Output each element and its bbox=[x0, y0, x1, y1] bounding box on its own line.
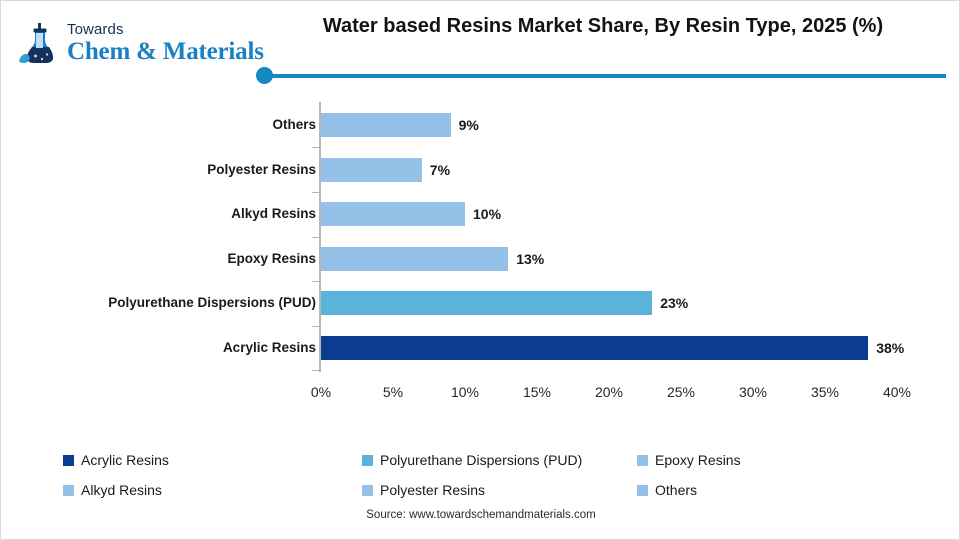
bar[interactable] bbox=[321, 202, 465, 226]
legend-label: Polyester Resins bbox=[380, 482, 485, 498]
y-axis-line bbox=[319, 102, 321, 372]
x-axis-tick-label: 25% bbox=[651, 384, 711, 400]
x-axis-tick-label: 30% bbox=[723, 384, 783, 400]
chart-canvas: Towards Chem & Materials Water based Res… bbox=[0, 0, 960, 540]
bar[interactable] bbox=[321, 291, 652, 315]
x-axis-tick-label: 15% bbox=[507, 384, 567, 400]
category-label: Alkyd Resins bbox=[16, 206, 316, 221]
legend-swatch bbox=[63, 485, 74, 496]
legend-swatch bbox=[362, 485, 373, 496]
x-axis-tick-label: 35% bbox=[795, 384, 855, 400]
legend-swatch bbox=[637, 455, 648, 466]
x-axis-tick-label: 0% bbox=[291, 384, 351, 400]
legend-item[interactable]: Others bbox=[637, 482, 697, 498]
x-axis-tick-label: 40% bbox=[867, 384, 927, 400]
y-axis-tick bbox=[312, 326, 319, 327]
y-axis-tick bbox=[312, 192, 319, 193]
legend-label: Alkyd Resins bbox=[81, 482, 162, 498]
legend-swatch bbox=[637, 485, 648, 496]
bar[interactable] bbox=[321, 158, 422, 182]
bar-value-label: 38% bbox=[876, 340, 904, 356]
bar[interactable] bbox=[321, 113, 451, 137]
legend-swatch bbox=[362, 455, 373, 466]
y-axis-tick bbox=[312, 370, 319, 371]
legend-item[interactable]: Epoxy Resins bbox=[637, 452, 741, 468]
x-axis-tick-label: 10% bbox=[435, 384, 495, 400]
legend-item[interactable]: Alkyd Resins bbox=[63, 482, 362, 498]
bar-value-label: 23% bbox=[660, 295, 688, 311]
chart-legend: Acrylic ResinsPolyurethane Dispersions (… bbox=[63, 445, 853, 505]
legend-row: Alkyd ResinsPolyester ResinsOthers bbox=[63, 475, 853, 505]
legend-row: Acrylic ResinsPolyurethane Dispersions (… bbox=[63, 445, 853, 475]
category-label: Epoxy Resins bbox=[16, 251, 316, 266]
legend-label: Others bbox=[655, 482, 697, 498]
category-label: Acrylic Resins bbox=[16, 340, 316, 355]
y-axis-tick bbox=[312, 147, 319, 148]
y-axis-tick bbox=[312, 237, 319, 238]
bar-value-label: 13% bbox=[516, 251, 544, 267]
x-axis-tick-label: 5% bbox=[363, 384, 423, 400]
bar-value-label: 7% bbox=[430, 162, 450, 178]
legend-item[interactable]: Acrylic Resins bbox=[63, 452, 362, 468]
category-label: Polyurethane Dispersions (PUD) bbox=[16, 295, 316, 310]
legend-item[interactable]: Polyurethane Dispersions (PUD) bbox=[362, 452, 637, 468]
bar[interactable] bbox=[321, 336, 868, 360]
category-label: Others bbox=[16, 117, 316, 132]
legend-label: Polyurethane Dispersions (PUD) bbox=[380, 452, 582, 468]
bar-value-label: 10% bbox=[473, 206, 501, 222]
legend-label: Epoxy Resins bbox=[655, 452, 741, 468]
bar-value-label: 9% bbox=[459, 117, 479, 133]
legend-label: Acrylic Resins bbox=[81, 452, 169, 468]
x-axis-tick-label: 20% bbox=[579, 384, 639, 400]
source-note: Source: www.towardschemandmaterials.com bbox=[1, 509, 960, 521]
bar[interactable] bbox=[321, 247, 508, 271]
legend-swatch bbox=[63, 455, 74, 466]
category-label: Polyester Resins bbox=[16, 162, 316, 177]
y-axis-tick bbox=[312, 281, 319, 282]
legend-item[interactable]: Polyester Resins bbox=[362, 482, 637, 498]
